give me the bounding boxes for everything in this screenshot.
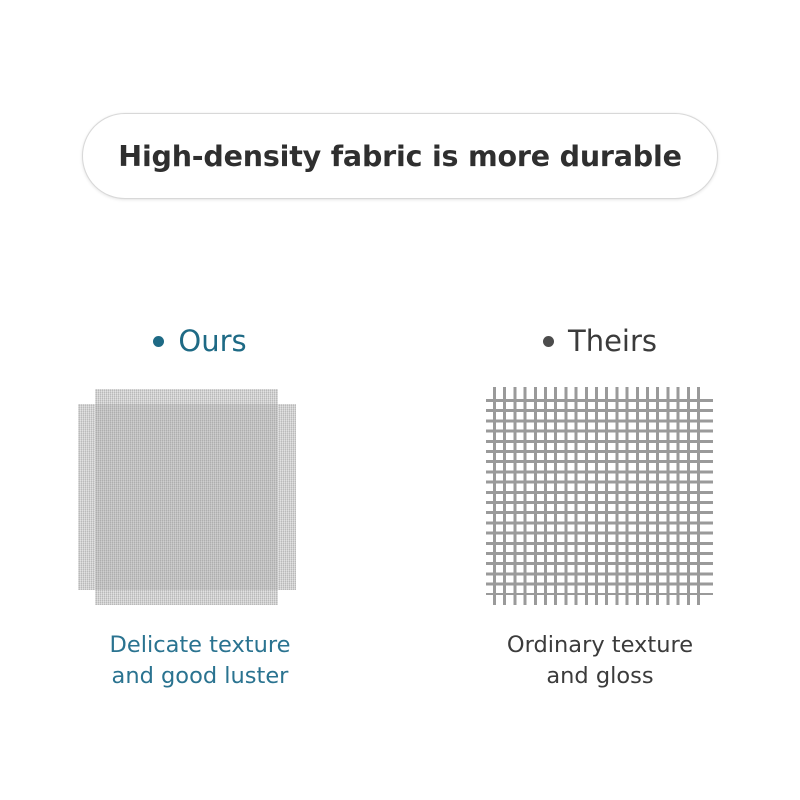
comparison-column-theirs: Theirs Ordinary texture and gloss xyxy=(400,318,800,692)
caption-theirs-line-1: Ordinary texture xyxy=(507,630,693,661)
headline-section: High-density fabric is more durable xyxy=(0,113,800,199)
fine-weave-fabric-swatch xyxy=(70,376,330,616)
column-title-theirs: Theirs xyxy=(568,327,657,356)
column-header-ours: Ours xyxy=(153,318,246,364)
bullet-dot-icon xyxy=(153,336,164,347)
fabric-layer-front xyxy=(95,389,278,605)
mesh-horizontal-threads xyxy=(486,399,713,595)
caption-ours-line-2: and good luster xyxy=(110,661,291,692)
caption-ours-line-1: Delicate texture xyxy=(110,630,291,661)
caption-ours: Delicate texture and good luster xyxy=(110,630,291,692)
open-mesh-fabric-swatch xyxy=(470,376,730,616)
page-title: High-density fabric is more durable xyxy=(118,140,681,173)
comparison-column-ours: Ours Delicate texture and good luster xyxy=(0,318,400,692)
column-header-theirs: Theirs xyxy=(543,318,657,364)
column-title-ours: Ours xyxy=(178,327,246,356)
headline-pill: High-density fabric is more durable xyxy=(82,113,718,199)
caption-theirs-line-2: and gloss xyxy=(507,661,693,692)
caption-theirs: Ordinary texture and gloss xyxy=(507,630,693,692)
comparison-section: Ours Delicate texture and good luster Th… xyxy=(0,318,800,692)
bullet-dot-icon xyxy=(543,336,554,347)
